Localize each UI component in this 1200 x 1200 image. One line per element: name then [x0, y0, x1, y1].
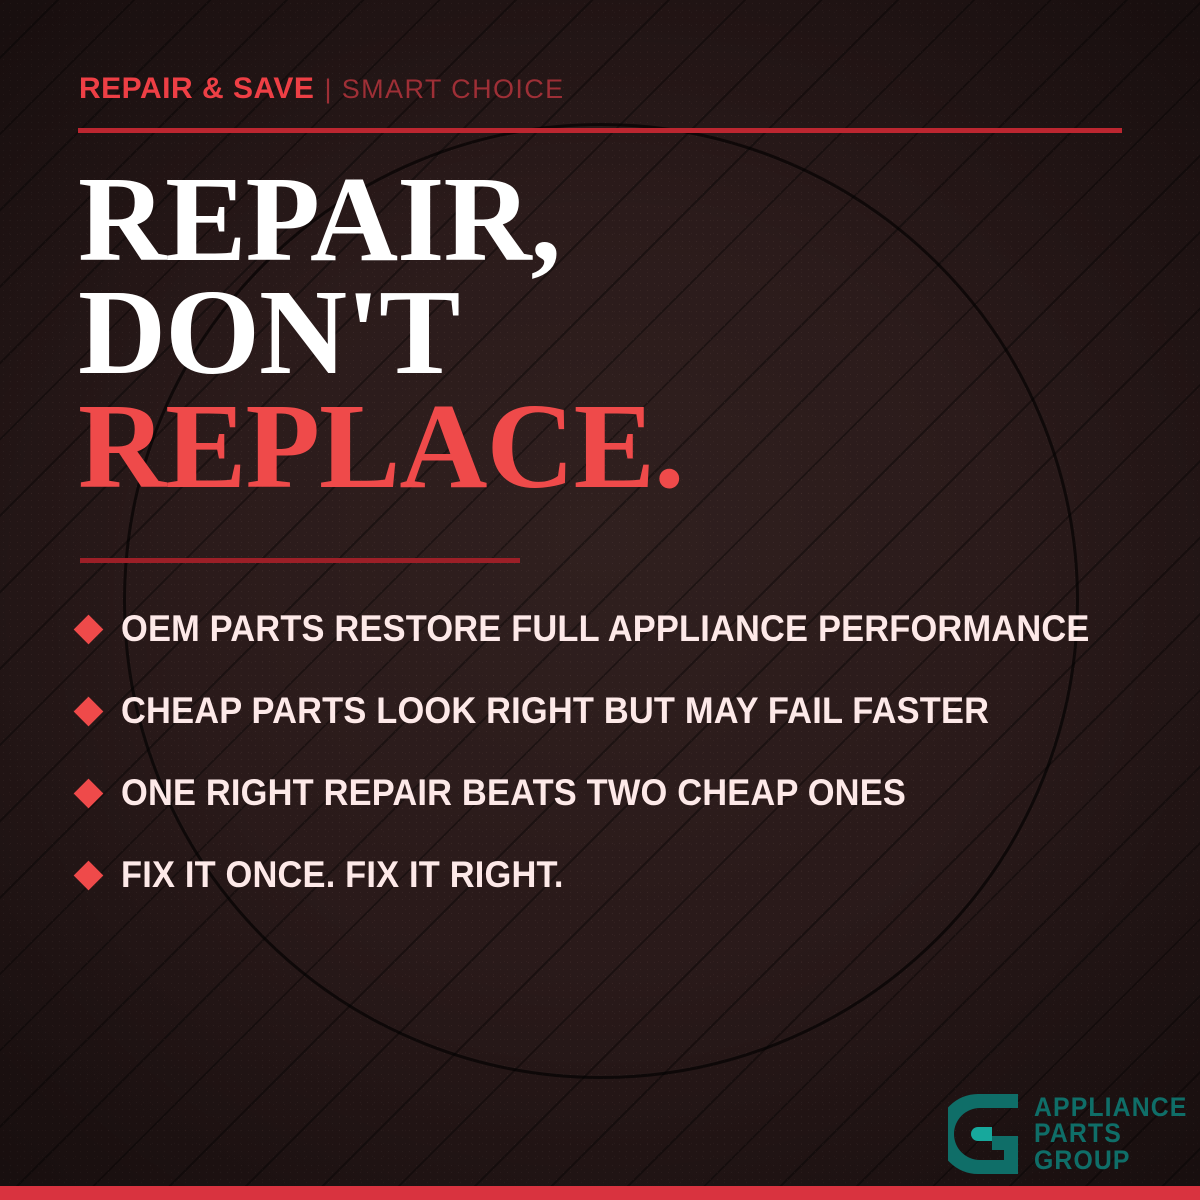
brand-logo-wordmark: APPLIANCE PARTS GROUP — [1034, 1092, 1187, 1173]
list-item: CHEAP PARTS LOOK RIGHT BUT MAY FAIL FAST… — [78, 670, 1158, 752]
list-item-label: FIX IT ONCE. FIX IT RIGHT. — [121, 854, 564, 896]
benefits-list: OEM PARTS RESTORE FULL APPLIANCE PERFORM… — [78, 588, 1158, 916]
list-item: ONE RIGHT REPAIR BEATS TWO CHEAP ONES — [78, 752, 1158, 834]
kicker-sub-label: | SMART CHOICE — [324, 74, 564, 104]
poster-content: REPAIR & SAVE| SMART CHOICE REPAIR, DON'… — [0, 0, 1200, 1200]
brand-logo-line-1: APPLIANCE — [1034, 1094, 1187, 1120]
list-item-label: ONE RIGHT REPAIR BEATS TWO CHEAP ONES — [121, 772, 906, 814]
headline-line-1: REPAIR, — [78, 163, 683, 276]
list-item: OEM PARTS RESTORE FULL APPLIANCE PERFORM… — [78, 588, 1158, 670]
headline-line-3: REPLACE. — [78, 390, 683, 503]
diamond-icon — [74, 614, 104, 644]
kicker: REPAIR & SAVE| SMART CHOICE — [79, 74, 565, 104]
diamond-icon — [74, 696, 104, 726]
headline-divider — [80, 558, 520, 563]
bottom-accent-bar — [0, 1186, 1200, 1200]
headline-line-2: DON'T — [78, 276, 683, 389]
list-item-label: CHEAP PARTS LOOK RIGHT BUT MAY FAIL FAST… — [121, 690, 989, 732]
g-monogram-icon — [948, 1092, 1022, 1176]
list-item: FIX IT ONCE. FIX IT RIGHT. — [78, 834, 1158, 916]
kicker-main-label: REPAIR & SAVE — [79, 72, 314, 105]
brand-logo-line-3: GROUP — [1034, 1147, 1187, 1173]
brand-logo: APPLIANCE PARTS GROUP — [948, 1092, 1200, 1176]
page-title: REPAIR, DON'T REPLACE. — [78, 163, 683, 503]
brand-logo-line-2: PARTS — [1034, 1120, 1187, 1146]
diamond-icon — [74, 860, 104, 890]
header-divider — [78, 128, 1122, 133]
poster-canvas: REPAIR & SAVE| SMART CHOICE REPAIR, DON'… — [0, 0, 1200, 1200]
list-item-label: OEM PARTS RESTORE FULL APPLIANCE PERFORM… — [121, 608, 1090, 650]
diamond-icon — [74, 778, 104, 808]
